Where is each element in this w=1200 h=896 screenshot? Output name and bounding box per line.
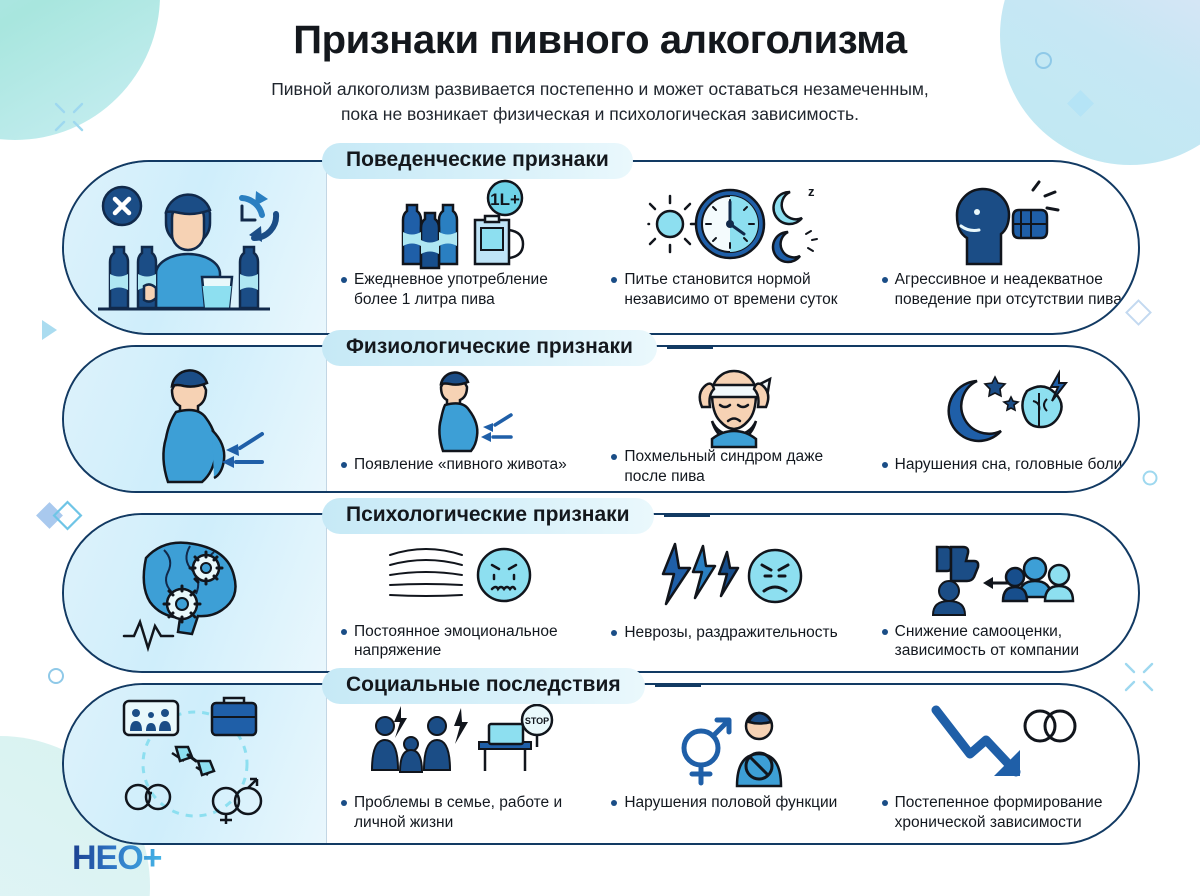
- item-label: Похмельный синдром даже после пива: [624, 447, 853, 486]
- art-downward-arrow-chain-rings: [882, 701, 1124, 793]
- illustration-man-with-beer-belly: [64, 347, 326, 491]
- item-label: Снижение самооценки, зависимость от комп…: [895, 622, 1124, 661]
- item-label: Нарушения сна, головные боли: [895, 455, 1123, 475]
- man-with-beer-bottles-illustration: [90, 178, 300, 318]
- heading-rule: [643, 160, 689, 163]
- illustration-man-with-beer-bottles: [64, 162, 326, 333]
- bullet-icon: [882, 462, 888, 468]
- item-label: Питье становится нормой независимо от вр…: [624, 270, 853, 309]
- text-psychological-2: Снижение самооценки, зависимость от комп…: [882, 622, 1124, 661]
- item-label: Постепенное формирование хронической зав…: [895, 793, 1124, 832]
- item-social-2: Постепенное формирование хронической зав…: [868, 685, 1138, 843]
- section-behavioral: 1L+ Ежедневное употребление более 1 литр…: [62, 160, 1140, 335]
- art-moon-stars-brain: [882, 363, 1124, 455]
- bullet-icon: [611, 454, 617, 460]
- text-physiological-1: Похмельный синдром даже после пива: [611, 447, 853, 486]
- brand-logo: НЕО+: [72, 839, 162, 878]
- art-three-bottles-one-liter: 1L+: [341, 178, 583, 270]
- item-behavioral-0: 1L+ Ежедневное употребление более 1 литр…: [327, 162, 597, 333]
- section-heading-pill: Социальные последствия: [322, 668, 645, 704]
- section-heading-pill: Поведенческие признаки: [322, 143, 633, 179]
- art-sun-clock-moon: z: [611, 178, 853, 270]
- bullet-icon: [611, 630, 617, 636]
- item-behavioral-2: Агрессивное и неадекватное поведение при…: [868, 162, 1138, 333]
- page-subtitle-line-2: пока не возникает физическая и психологи…: [0, 102, 1200, 127]
- section-physiological: Появление «пивного живота»: [62, 345, 1140, 493]
- page-title: Признаки пивного алкоголизма: [0, 18, 1200, 63]
- item-physiological-0: Появление «пивного живота»: [327, 347, 597, 491]
- heading-rule: [664, 515, 710, 518]
- item-behavioral-1: z Питье становится нормой независимо от …: [597, 162, 867, 333]
- item-label: Постоянное эмоциональное напряжение: [354, 622, 583, 661]
- text-social-0: Проблемы в семье, работе и личной жизни: [341, 793, 583, 832]
- item-label: Нарушения половой функции: [624, 793, 837, 813]
- item-psychological-2: Снижение самооценки, зависимость от комп…: [868, 515, 1138, 671]
- page-subtitle-line-1: Пивной алкоголизм развивается постепенно…: [0, 77, 1200, 102]
- bullet-icon: [611, 800, 617, 806]
- bullet-icon: [611, 277, 617, 283]
- item-label: Неврозы, раздражительность: [624, 623, 837, 643]
- decor-ring-left: [48, 668, 64, 684]
- section-heading-behavioral: Поведенческие признаки: [322, 143, 689, 179]
- item-label: Проблемы в семье, работе и личной жизни: [354, 793, 583, 832]
- text-social-2: Постепенное формирование хронической зав…: [882, 793, 1124, 832]
- item-physiological-1: Похмельный синдром даже после пива: [597, 347, 867, 491]
- item-psychological-1: Неврозы, раздражительность: [597, 515, 867, 671]
- illustration-brain-with-gears: [64, 515, 326, 671]
- art-lightning-angry-face: [611, 531, 853, 623]
- text-psychological-0: Постоянное эмоциональное напряжение: [341, 622, 583, 661]
- text-social-1: Нарушения половой функции: [611, 793, 853, 813]
- svg-text:z: z: [808, 184, 815, 199]
- item-physiological-2: Нарушения сна, головные боли: [868, 347, 1138, 491]
- section-heading-physiological: Физиологические признаки: [322, 330, 713, 366]
- art-gender-symbol-blocked: [611, 701, 853, 793]
- decor-ring-right: [1142, 470, 1158, 486]
- text-physiological-0: Появление «пивного живота»: [341, 455, 583, 475]
- text-physiological-2: Нарушения сна, головные боли: [882, 455, 1124, 475]
- section-social: STOP Проблемы в семье, работе и личной ж…: [62, 683, 1140, 845]
- illustration-broken-chain: [64, 685, 326, 843]
- item-psychological-0: Постоянное эмоциональное напряжение: [327, 515, 597, 671]
- text-behavioral-0: Ежедневное употребление более 1 литра пи…: [341, 270, 583, 309]
- text-psychological-1: Неврозы, раздражительность: [611, 623, 853, 643]
- section-heading-psychological: Психологические признаки: [322, 498, 710, 534]
- art-hangover-headache-man: [611, 363, 853, 447]
- columns-psychological: Постоянное эмоциональное напряжение: [326, 515, 1138, 671]
- broken-chain-family-work-illustration: [100, 697, 290, 831]
- badge-one-liter-plus: 1L+: [490, 190, 520, 209]
- bullet-icon: [341, 462, 347, 468]
- item-label: Агрессивное и неадекватное поведение при…: [895, 270, 1124, 309]
- bullet-icon: [341, 277, 347, 283]
- item-social-1: Нарушения половой функции: [597, 685, 867, 843]
- text-behavioral-2: Агрессивное и неадекватное поведение при…: [882, 270, 1124, 309]
- item-label: Появление «пивного живота»: [354, 455, 567, 475]
- infographic-page: Признаки пивного алкоголизма Пивной алко…: [0, 0, 1200, 896]
- art-beer-belly-profile: [341, 363, 583, 455]
- columns-social: STOP Проблемы в семье, работе и личной ж…: [326, 685, 1138, 843]
- columns-behavioral: 1L+ Ежедневное употребление более 1 литр…: [326, 162, 1138, 333]
- art-thumbs-down-group: [882, 531, 1124, 622]
- section-heading-social: Социальные последствия: [322, 668, 701, 704]
- badge-stop: STOP: [525, 716, 549, 726]
- bullet-icon: [882, 800, 888, 806]
- bullet-icon: [341, 629, 347, 635]
- item-label: Ежедневное употребление более 1 литра пи…: [354, 270, 583, 309]
- section-heading-pill: Психологические признаки: [322, 498, 654, 534]
- section-heading-pill: Физиологические признаки: [322, 330, 657, 366]
- art-shouting-head-fist: [882, 178, 1124, 270]
- heading-rule: [667, 347, 713, 350]
- art-tense-lines-worried-face: [341, 531, 583, 622]
- brain-with-gears-illustration: [110, 528, 280, 658]
- page-subtitle: Пивной алкоголизм развивается постепенно…: [0, 77, 1200, 128]
- columns-physiological: Появление «пивного живота»: [326, 347, 1138, 491]
- bullet-icon: [882, 629, 888, 635]
- item-social-0: STOP Проблемы в семье, работе и личной ж…: [327, 685, 597, 843]
- text-behavioral-1: Питье становится нормой независимо от вр…: [611, 270, 853, 309]
- bullet-icon: [882, 277, 888, 283]
- section-psychological: Постоянное эмоциональное напряжение: [62, 513, 1140, 673]
- decor-triangle-left: [42, 320, 57, 340]
- man-with-beer-belly-illustration: [120, 354, 270, 484]
- page-header: Признаки пивного алкоголизма Пивной алко…: [0, 18, 1200, 128]
- bullet-icon: [341, 800, 347, 806]
- heading-rule: [655, 685, 701, 688]
- art-family-conflict-work-stop: STOP: [341, 701, 583, 793]
